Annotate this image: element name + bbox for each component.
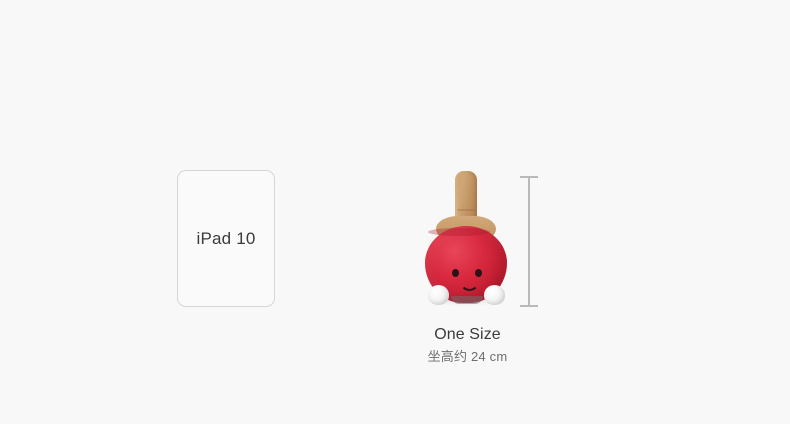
size-caption-title: One Size — [395, 325, 540, 345]
size-caption-subtitle: 坐高约 24 cm — [395, 348, 540, 366]
size-reference-label: iPad 10 — [178, 229, 274, 249]
dimension-bar — [528, 176, 530, 307]
height-dimension-line — [520, 176, 538, 307]
paddle-seam — [428, 228, 490, 236]
left-eye — [452, 269, 459, 277]
right-foot — [484, 285, 505, 305]
left-foot — [428, 285, 449, 305]
right-eye — [475, 269, 482, 277]
toe-strap — [451, 296, 483, 304]
size-caption: One Size 坐高约 24 cm — [395, 325, 540, 366]
plush-ping-pong-paddle — [418, 168, 514, 313]
dimension-cap-bottom — [520, 305, 538, 307]
size-reference-ipad-outline: iPad 10 — [177, 170, 275, 307]
product-size-comparison-canvas: iPad 10 One Size 坐高约 24 cm — [0, 0, 790, 424]
